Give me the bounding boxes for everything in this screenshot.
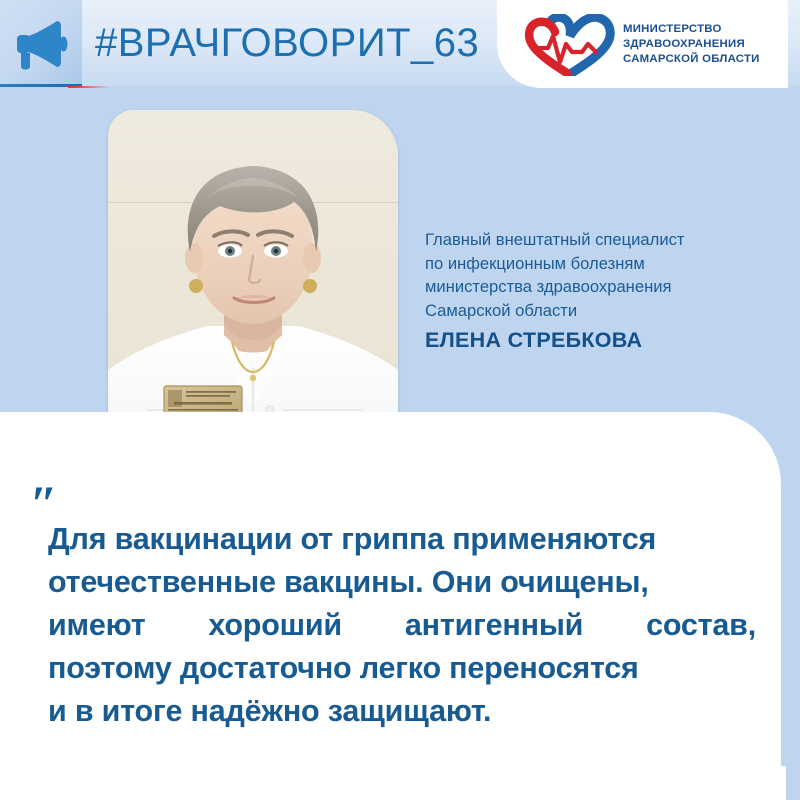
quote-line: Для вакцинации от гриппа применяются bbox=[48, 518, 756, 561]
hashtag-title: #ВРАЧГОВОРИТ_63 bbox=[95, 14, 479, 72]
credentials-block: Главный внештатный специалист по инфекци… bbox=[425, 228, 765, 353]
megaphone-icon bbox=[13, 18, 69, 70]
ministry-logo-text: МИНИСТЕРСТВО ЗДРАВООХРАНЕНИЯ САМАРСКОЙ О… bbox=[623, 22, 760, 68]
quote-line: имеют хороший антигенный состав, bbox=[48, 604, 756, 647]
logo-text-line-3: САМАРСКОЙ ОБЛАСТИ bbox=[623, 52, 760, 67]
doctor-name: ЕЛЕНА СТРЕБКОВА bbox=[425, 328, 765, 353]
ministry-logo-panel: МИНИСТЕРСТВО ЗДРАВООХРАНЕНИЯ САМАРСКОЙ О… bbox=[497, 0, 788, 88]
quote-line: отечественные вакцины. Они очищены, bbox=[48, 561, 756, 604]
quote-word: хороший bbox=[208, 604, 342, 647]
credentials-line-4: Самарской области bbox=[425, 299, 765, 323]
background-right-strip bbox=[786, 0, 800, 800]
red-corner-accent bbox=[68, 86, 108, 88]
header-bar: #ВРАЧГОВОРИТ_63 МИНИСТЕРСТВО ЗДРАВООХРАН… bbox=[0, 0, 800, 88]
credentials-line-1: Главный внештатный специалист bbox=[425, 228, 765, 252]
quote-line: и в итоге надёжно защищают. bbox=[48, 690, 756, 733]
quote-text: Для вакцинации от гриппа применяются оте… bbox=[48, 518, 756, 733]
quote-word: имеют bbox=[48, 604, 146, 647]
heart-ecg-logo-icon bbox=[520, 14, 616, 76]
quote-word: состав, bbox=[646, 604, 756, 647]
logo-text-line-1: МИНИСТЕРСТВО bbox=[623, 22, 760, 37]
quote-word: антигенный bbox=[405, 604, 583, 647]
quote-line: поэтому достаточно легко переносятся bbox=[48, 647, 756, 690]
poster-canvas: #ВРАЧГОВОРИТ_63 МИНИСТЕРСТВО ЗДРАВООХРАН… bbox=[0, 0, 800, 800]
header-icon-container bbox=[0, 0, 82, 86]
credentials-line-3: министерства здравоохранения bbox=[425, 275, 765, 299]
logo-text-line-2: ЗДРАВООХРАНЕНИЯ bbox=[623, 37, 760, 52]
credentials-line-2: по инфекционным болезням bbox=[425, 252, 765, 276]
